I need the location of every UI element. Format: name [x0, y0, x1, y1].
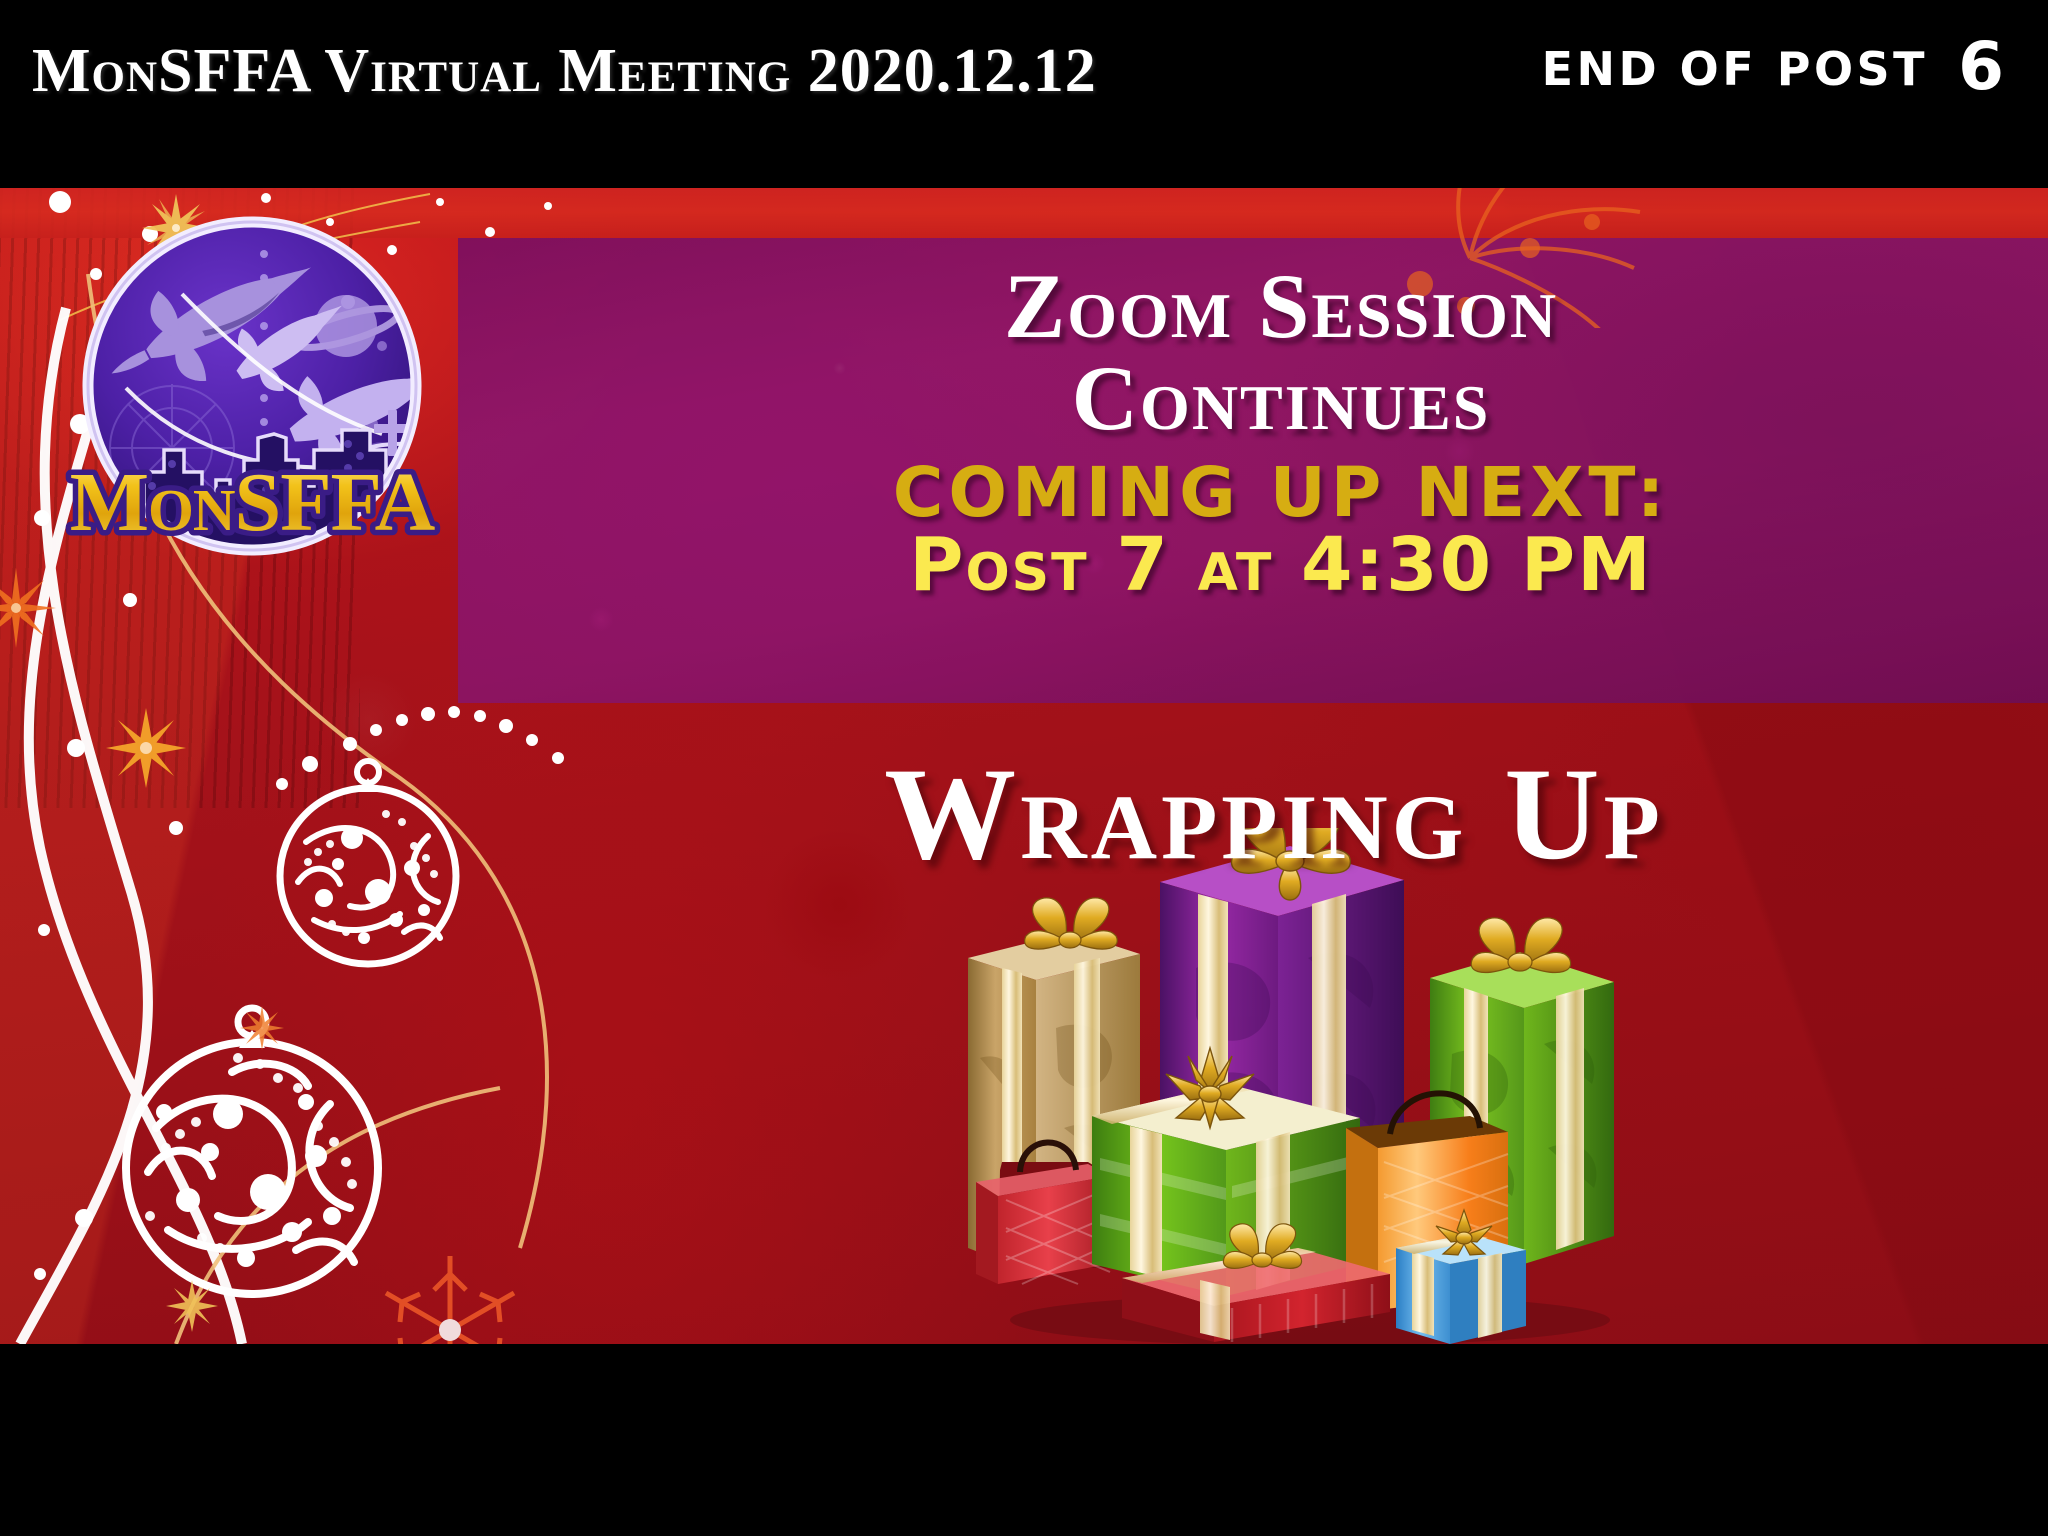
svg-text:MonSFFA: MonSFFA: [70, 456, 436, 549]
monsffa-wordmark: MonSFFA MonSFFA: [70, 456, 436, 549]
page-title: Wrapping Up: [500, 748, 2048, 880]
slide-canvas: Zoom Session Continues Coming Up Next: P…: [0, 0, 2048, 1536]
bottom-footer-bar: [0, 1344, 2048, 1536]
zoom-session-line1: Zoom Session: [514, 260, 2048, 354]
meeting-title: MonSFFA Virtual Meeting 2020.12.12: [32, 40, 1097, 102]
end-of-post-label: End of Post: [1542, 44, 1929, 95]
gold-bow-icon: [1025, 898, 1118, 949]
top-header-bar: MonSFFA Virtual Meeting 2020.12.12 End o…: [0, 0, 2048, 188]
monsffa-logo: MonSFFA MonSFFA: [52, 198, 452, 598]
gold-bow-icon: [1471, 918, 1570, 973]
coming-up-next-label: Coming Up Next:: [514, 458, 2048, 528]
slide-artwork-area: Zoom Session Continues Coming Up Next: P…: [0, 188, 2048, 1344]
gift-pile-illustration: [960, 828, 1660, 1344]
zoom-session-line2: Continues: [514, 352, 2048, 446]
zoom-session-panel-text: Zoom Session Continues Coming Up Next: P…: [458, 238, 2048, 703]
post-indicator: End of Post 6: [1542, 40, 2004, 94]
post-number: 6: [1958, 40, 2004, 94]
next-post-time: Post 7 at 4:30 PM: [514, 528, 2048, 603]
